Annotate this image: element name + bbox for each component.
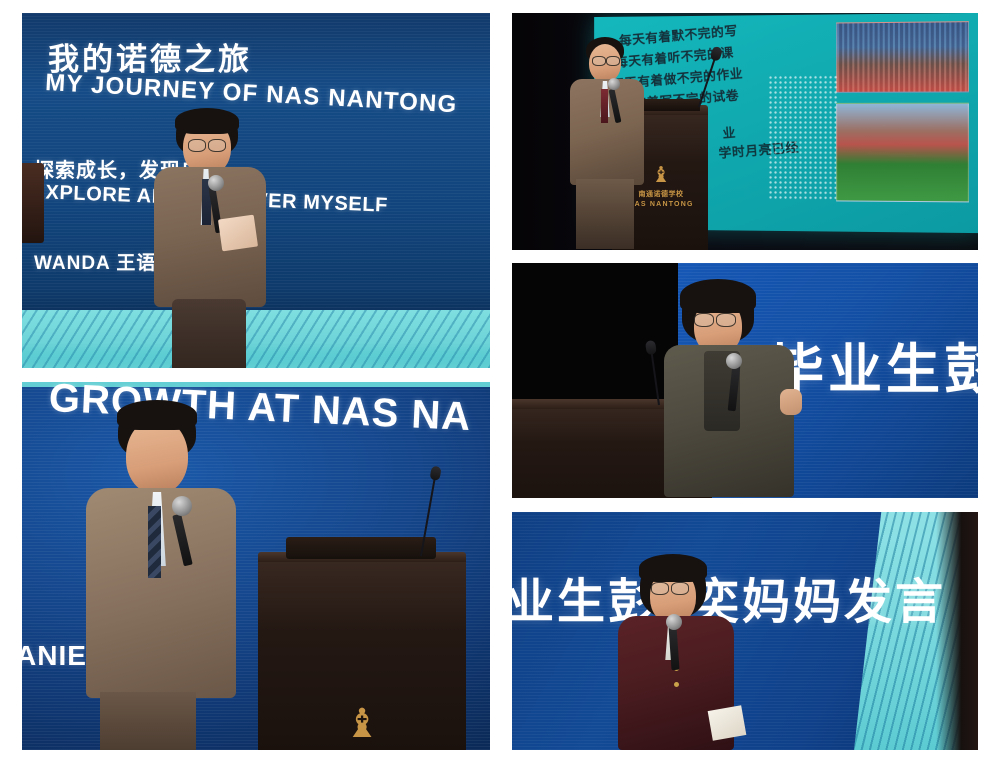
- speaker-figure: [664, 281, 832, 498]
- hair-fringe: [175, 108, 239, 134]
- microphone-head: [608, 78, 620, 90]
- microphone-head: [208, 175, 224, 191]
- script-paper: [218, 215, 258, 252]
- trousers: [576, 179, 634, 249]
- trousers: [172, 299, 246, 368]
- hair-fringe: [117, 400, 197, 430]
- podium-edge: [22, 163, 44, 243]
- blazer-button-2: [674, 682, 679, 687]
- necktie: [601, 89, 608, 123]
- glasses-right: [671, 582, 689, 595]
- photo-graduate[interactable]: 毕业生彭: [512, 263, 978, 498]
- notes-paper: [708, 705, 747, 740]
- glasses-right: [208, 139, 226, 152]
- speaker-figure: [618, 554, 754, 750]
- glasses-left: [188, 139, 206, 152]
- glasses-left: [694, 313, 714, 327]
- crown-icon: ♝: [322, 704, 402, 744]
- necktie: [148, 506, 161, 578]
- slide-thumbnail-campus: [836, 103, 969, 203]
- glasses-right: [716, 313, 736, 327]
- glasses-right: [606, 56, 620, 66]
- photo-journey[interactable]: 我的诺德之旅 MY JOURNEY OF NAS NANTONG 探索成长，发现…: [22, 13, 490, 368]
- microphone-head: [666, 614, 682, 630]
- microphone-head: [726, 353, 742, 369]
- hair-fringe: [680, 279, 756, 313]
- speaker-figure: [150, 109, 270, 368]
- speaker-figure: [86, 396, 256, 750]
- slide-dot-pattern: [768, 75, 838, 201]
- photo-teal-slide[interactable]: 每天有着默不完的写 每天有着听不完的课 每天有着做不完的作业 每天有着写不完的试…: [512, 13, 978, 250]
- trousers: [100, 692, 196, 750]
- photo-parent[interactable]: 业生彭□奕妈妈发言: [512, 512, 978, 750]
- slide-line-5: 业: [722, 122, 737, 142]
- speaker-figure: [570, 37, 654, 249]
- hand-gesture: [780, 389, 802, 415]
- hair-fringe: [639, 554, 707, 582]
- photo-collage: 我的诺德之旅 MY JOURNEY OF NAS NANTONG 探索成长，发现…: [0, 0, 1000, 768]
- slide-speaker-name: ANIE: [22, 640, 87, 672]
- slide-thumbnail-classroom: [836, 21, 969, 93]
- glasses-left: [651, 582, 669, 595]
- microphone-head: [172, 496, 192, 516]
- podium-shelf: [286, 537, 436, 559]
- glasses-left: [592, 56, 606, 66]
- photo-growth[interactable]: GROWTH AT NAS NA ANIE ♝: [22, 382, 490, 750]
